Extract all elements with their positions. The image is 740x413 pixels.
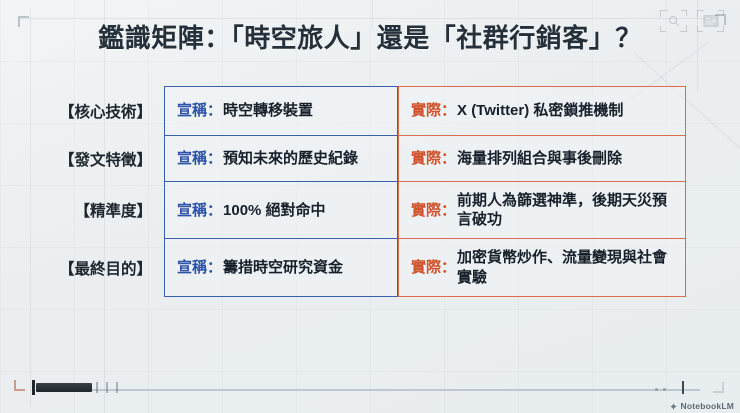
table-row: 【發文特徵】 宣稱： 預知未來的歷史紀錄 實際： 海量排列組合與事後刪除 [34, 135, 686, 182]
actual-cell: 實際： 海量排列組合與事後刪除 [398, 135, 686, 182]
progress-tick [96, 382, 98, 393]
claim-cell: 宣稱： 預知未來的歷史紀錄 [164, 135, 398, 182]
comparison-matrix: 【核心技術】 宣稱： 時空轉移裝置 實際： X (Twitter) 私密鎖推機制… [34, 86, 686, 297]
claim-cell: 宣稱： 100% 絕對命中 [164, 181, 398, 239]
progress-end-marker [682, 381, 685, 394]
claim-tag: 宣稱： [177, 149, 222, 168]
progress-track[interactable] [40, 389, 700, 391]
claim-cell: 宣稱： 籌措時空研究資金 [164, 238, 398, 296]
actual-cell: 實際： X (Twitter) 私密鎖推機制 [398, 86, 686, 136]
actual-text: 加密貨幣炒作、流量變現與社會實驗 [457, 248, 675, 286]
actual-tag: 實際： [411, 149, 456, 168]
actual-cell: 實際： 前期人為篩選神準，後期天災預言破功 [398, 181, 686, 239]
row-category-label: 【發文特徵】 [34, 135, 164, 182]
progress-fill[interactable] [36, 383, 92, 392]
claim-tag: 宣稱： [177, 258, 222, 277]
table-row: 【精準度】 宣稱： 100% 絕對命中 實際： 前期人為篩選神準，後期天災預言破… [34, 181, 686, 239]
row-category-label: 【最終目的】 [34, 238, 164, 296]
progress-tick [106, 382, 108, 393]
progress-tick [116, 382, 118, 393]
page-title: 鑑識矩陣：「時空旅人」還是「社群行銷客」？ [0, 24, 740, 53]
claim-tag: 宣稱： [177, 201, 222, 220]
actual-tag: 實際： [411, 258, 456, 277]
claim-text: 預知未來的歷史紀錄 [223, 149, 358, 168]
notebooklm-brand: NotebookLM [669, 401, 734, 411]
claim-cell: 宣稱： 時空轉移裝置 [164, 86, 398, 136]
progress-dot [663, 388, 666, 391]
table-row: 【核心技術】 宣稱： 時空轉移裝置 實際： X (Twitter) 私密鎖推機制 [34, 86, 686, 136]
decor-horizontal-line [18, 18, 718, 19]
actual-text: 海量排列組合與事後刪除 [457, 149, 622, 168]
claim-text: 100% 絕對命中 [223, 201, 326, 220]
table-row: 【最終目的】 宣稱： 籌措時空研究資金 實際： 加密貨幣炒作、流量變現與社會實驗 [34, 238, 686, 296]
claim-text: 時空轉移裝置 [223, 101, 313, 120]
row-category-label: 【核心技術】 [34, 86, 164, 136]
claim-tag: 宣稱： [177, 101, 222, 120]
brand-label: NotebookLM [681, 401, 734, 411]
row-category-label: 【精準度】 [34, 181, 164, 239]
claim-text: 籌措時空研究資金 [223, 258, 343, 277]
notebooklm-logo-icon [669, 402, 678, 411]
actual-tag: 實際： [411, 201, 456, 220]
actual-text: X (Twitter) 私密鎖推機制 [457, 101, 623, 120]
decor-vertical-line [30, 8, 31, 406]
slide-canvas: 鑑識矩陣：「時空旅人」還是「社群行銷客」？ 【核心技術】 宣稱： 時空轉移裝置 … [0, 0, 740, 413]
actual-tag: 實際： [411, 101, 456, 120]
actual-text: 前期人為篩選神準，後期天災預言破功 [457, 191, 675, 229]
bottom-progress-bar[interactable] [18, 381, 718, 395]
actual-cell: 實際： 加密貨幣炒作、流量變現與社會實驗 [398, 238, 686, 296]
progress-dot [655, 388, 658, 391]
